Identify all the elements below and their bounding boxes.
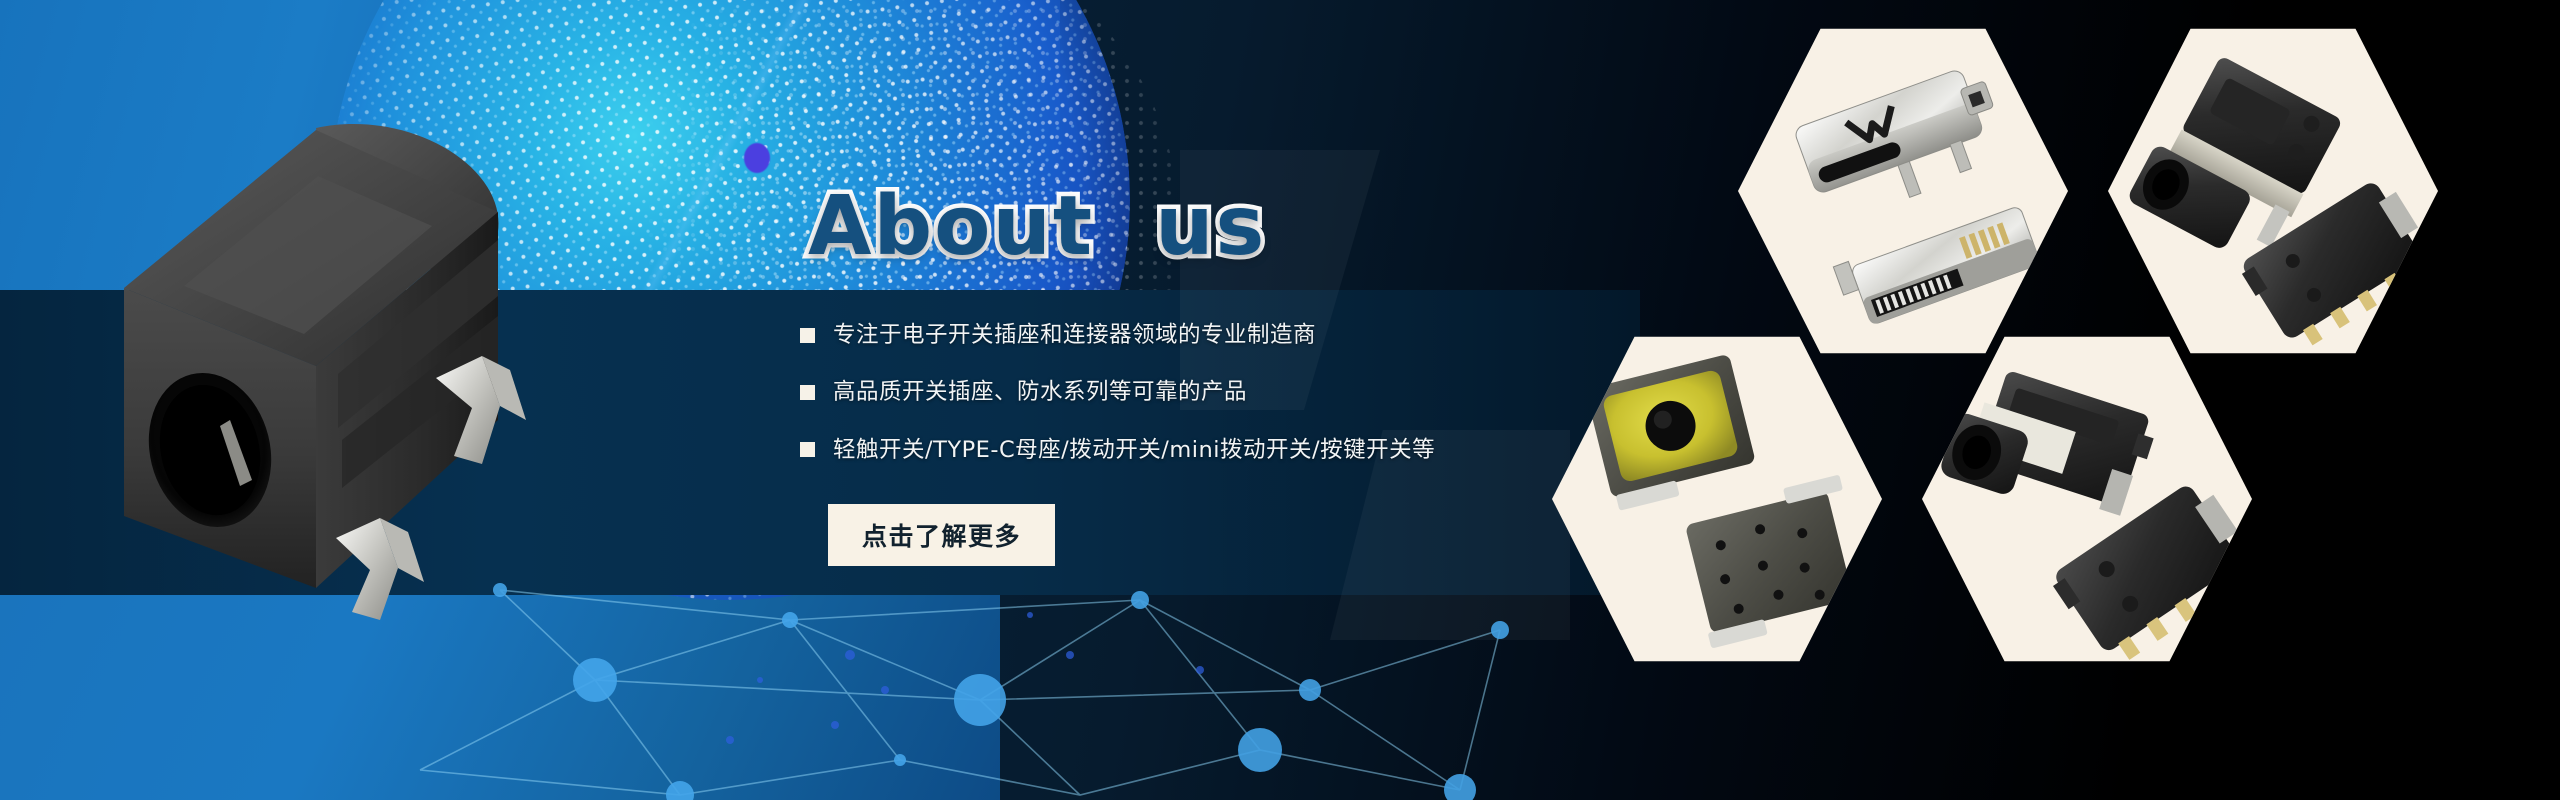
square-bullet-icon (800, 385, 815, 400)
about-us-banner: About us 专注于电子开关插座和连接器领域的专业制造商 高品质开关插座、防… (0, 0, 2560, 800)
hex-tile-type-c-connector[interactable] (1738, 22, 2068, 360)
hex-tile-tactile-switch[interactable] (1552, 330, 1882, 668)
square-bullet-icon (800, 328, 815, 343)
list-item: 专注于电子开关插座和连接器领域的专业制造商 (800, 320, 1560, 350)
product-hexagon-grid (1560, 0, 2560, 800)
feature-text: 专注于电子开关插座和连接器领域的专业制造商 (833, 320, 1316, 350)
feature-text: 轻触开关/TYPE-C母座/拨动开关/mini拨动开关/按键开关等 (833, 435, 1435, 465)
phone-jack-image (1922, 330, 2252, 668)
list-item: 高品质开关插座、防水系列等可靠的产品 (800, 377, 1560, 407)
type-c-connector-image (1738, 22, 2068, 360)
feature-text: 高品质开关插座、防水系列等可靠的产品 (833, 377, 1247, 407)
purple-accent-dot (744, 143, 770, 173)
learn-more-button[interactable]: 点击了解更多 (828, 504, 1055, 566)
hex-tile-audio-jack[interactable] (2108, 22, 2438, 360)
hero-product-dc-power-jack (80, 120, 640, 640)
feature-list: 专注于电子开关插座和连接器领域的专业制造商 高品质开关插座、防水系列等可靠的产品… (800, 320, 1560, 465)
audio-jack-image (2108, 22, 2438, 360)
list-item: 轻触开关/TYPE-C母座/拨动开关/mini拨动开关/按键开关等 (800, 435, 1560, 465)
banner-content: About us 专注于电子开关插座和连接器领域的专业制造商 高品质开关插座、防… (800, 186, 1560, 566)
tactile-switch-image (1552, 330, 1882, 668)
page-title: About us (808, 186, 1560, 268)
hex-tile-phone-jack[interactable] (1922, 330, 2252, 668)
square-bullet-icon (800, 442, 815, 457)
